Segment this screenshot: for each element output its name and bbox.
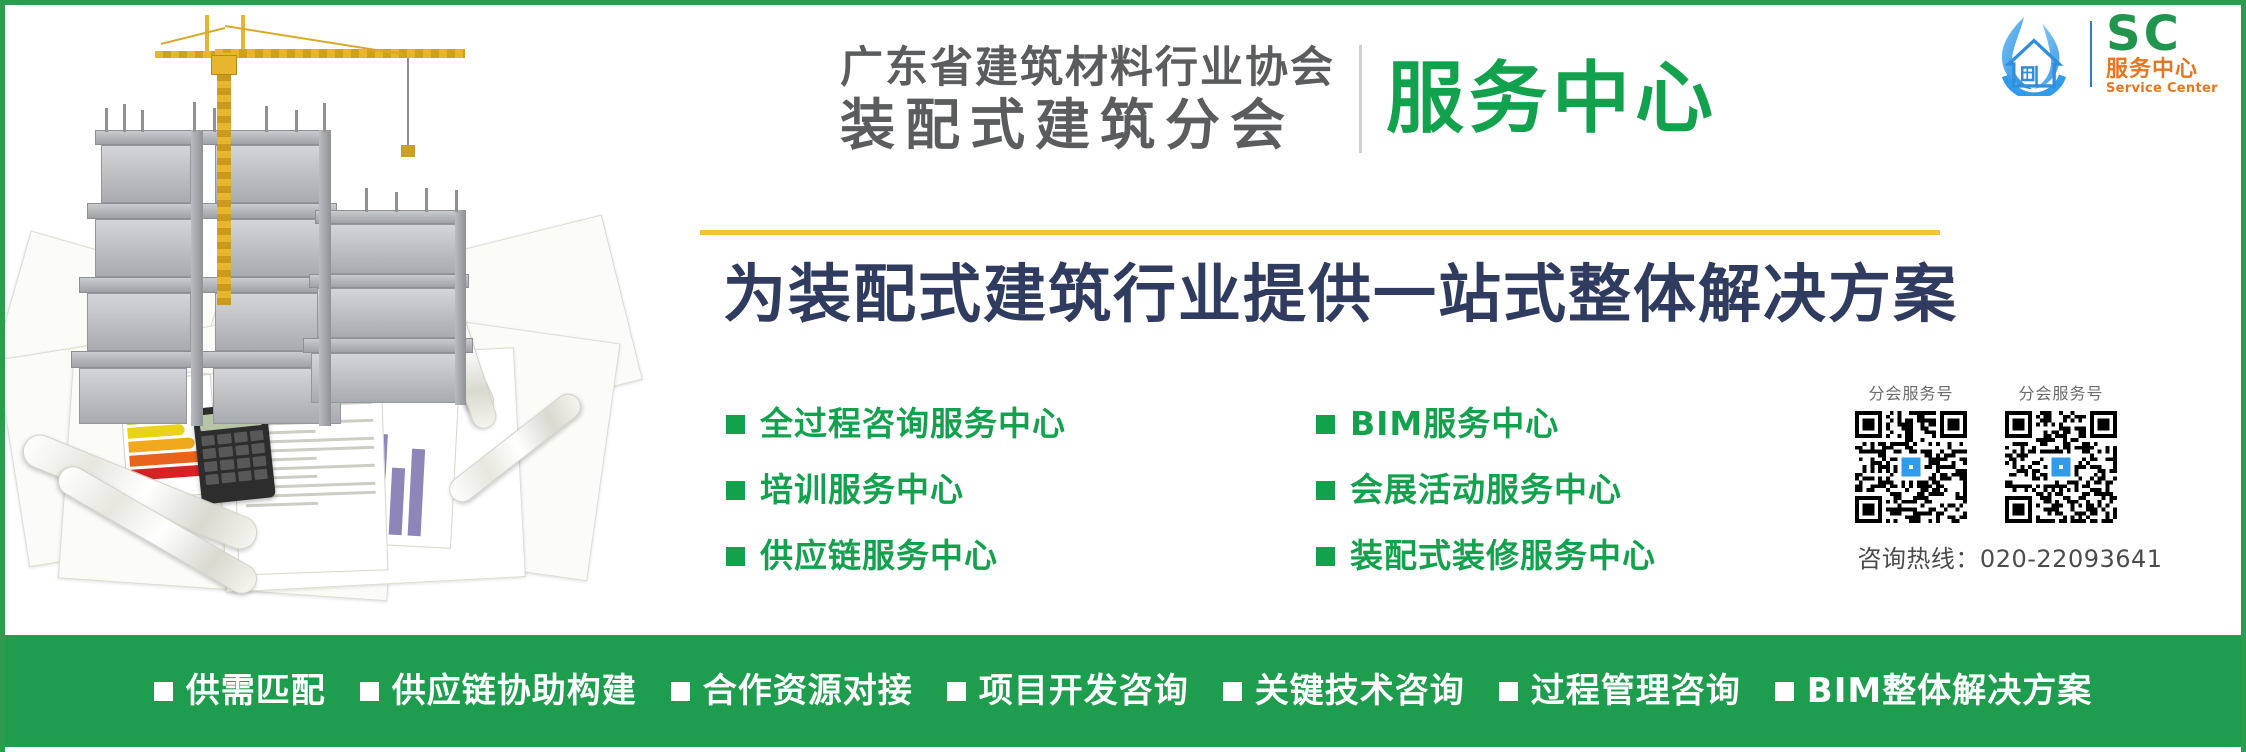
service-item-label: 装配式装修服务中心 [1350, 537, 1656, 575]
banner-root: 广东省建筑材料行业协会 装配式建筑分会 服务中心 为装配式建筑行业提供一站式整体… [0, 0, 2246, 752]
logo-en-label: Service Center [2106, 82, 2218, 96]
qr-column-0: 分会服务号 [1855, 380, 1967, 523]
service-item-label: BIM服务中心 [1350, 405, 1559, 443]
bullet-square-icon [1316, 547, 1335, 566]
service-item-2[interactable]: 培训服务中心 [726, 471, 1316, 509]
bottom-item-3[interactable]: 项目开发咨询 [947, 672, 1189, 710]
logo-cn-label: 服务中心 [2106, 58, 2198, 82]
logo-block[interactable]: SC 服务中心 Service Center [1992, 12, 2218, 96]
bottom-item-4[interactable]: 关键技术咨询 [1223, 672, 1465, 710]
bullet-square-icon [671, 682, 690, 701]
hotline-text: 咨询热线：020-22093641 [1855, 539, 2165, 574]
qr-caption: 分会服务号 [2018, 380, 2103, 404]
frame-right-border [2241, 0, 2246, 752]
headline-divider [1359, 45, 1362, 153]
bullet-square-icon [726, 481, 745, 500]
service-item-label: 全过程咨询服务中心 [760, 405, 1066, 443]
bottom-item-label: 供需匹配 [186, 672, 326, 710]
bullet-square-icon [1316, 415, 1335, 434]
bullet-square-icon [1223, 682, 1242, 701]
gdpcb-house-flame-icon [1992, 12, 2076, 96]
bullet-square-icon [726, 415, 745, 434]
tagline: 为装配式建筑行业提供一站式整体解决方案 [723, 258, 1958, 332]
qr-block: 分会服务号 分会服务号 咨询热线：020-22093641 [1855, 380, 2165, 574]
bottom-item-label: 合作资源对接 [703, 672, 913, 710]
service-item-4[interactable]: 供应链服务中心 [726, 537, 1316, 575]
headline-group: 广东省建筑材料行业协会 装配式建筑分会 服务中心 [840, 42, 1940, 156]
bullet-square-icon [1775, 682, 1794, 701]
service-item-label: 会展活动服务中心 [1350, 471, 1622, 509]
qr-code-image-0[interactable] [1855, 411, 1967, 523]
bullet-square-icon [1316, 481, 1335, 500]
logo-abbrev: SC [2106, 12, 2182, 56]
association-name-line1: 广东省建筑材料行业协会 [840, 42, 1335, 94]
bullet-square-icon [1499, 682, 1518, 701]
bullet-square-icon [360, 682, 379, 701]
bottom-item-label: 关键技术咨询 [1255, 672, 1465, 710]
bottom-capability-bar: 供需匹配 供应链协助构建 合作资源对接 项目开发咨询 关键技术咨询 过程管理咨询… [5, 635, 2241, 747]
bullet-square-icon [726, 547, 745, 566]
bottom-item-label: 供应链协助构建 [392, 672, 637, 710]
qr-row: 分会服务号 分会服务号 [1855, 380, 2165, 523]
gold-divider-rule [700, 230, 1940, 235]
bullet-square-icon [154, 682, 173, 701]
construction-photo [5, 5, 645, 635]
service-item-label: 供应链服务中心 [760, 537, 998, 575]
bullet-square-icon [947, 682, 966, 701]
bottom-item-0[interactable]: 供需匹配 [154, 672, 326, 710]
association-branch-line2: 装配式建筑分会 [840, 94, 1335, 156]
logo-divider [2090, 21, 2092, 87]
bottom-item-2[interactable]: 合作资源对接 [671, 672, 913, 710]
service-item-1[interactable]: BIM服务中心 [1316, 405, 1656, 443]
qr-code-image-1[interactable] [2005, 411, 2117, 523]
bottom-item-label: 项目开发咨询 [979, 672, 1189, 710]
logo-text-group: SC 服务中心 Service Center [2106, 12, 2218, 96]
qr-column-1: 分会服务号 [2005, 380, 2117, 523]
bottom-item-label: 过程管理咨询 [1531, 672, 1741, 710]
bottom-item-6[interactable]: BIM整体解决方案 [1775, 672, 2092, 710]
service-item-5[interactable]: 装配式装修服务中心 [1316, 537, 1656, 575]
service-item-label: 培训服务中心 [760, 471, 964, 509]
service-item-3[interactable]: 会展活动服务中心 [1316, 471, 1656, 509]
bottom-item-5[interactable]: 过程管理咨询 [1499, 672, 1741, 710]
qr-caption: 分会服务号 [1868, 380, 1953, 404]
service-item-0[interactable]: 全过程咨询服务中心 [726, 405, 1316, 443]
service-center-title: 服务中心 [1386, 57, 1718, 141]
tower-crane [155, 15, 485, 305]
service-center-list: 全过程咨询服务中心 BIM服务中心 培训服务中心 会展活动服务中心 供应链服务中… [726, 405, 1656, 575]
bottom-item-1[interactable]: 供应链协助构建 [360, 672, 637, 710]
bottom-item-label: BIM整体解决方案 [1807, 672, 2092, 710]
